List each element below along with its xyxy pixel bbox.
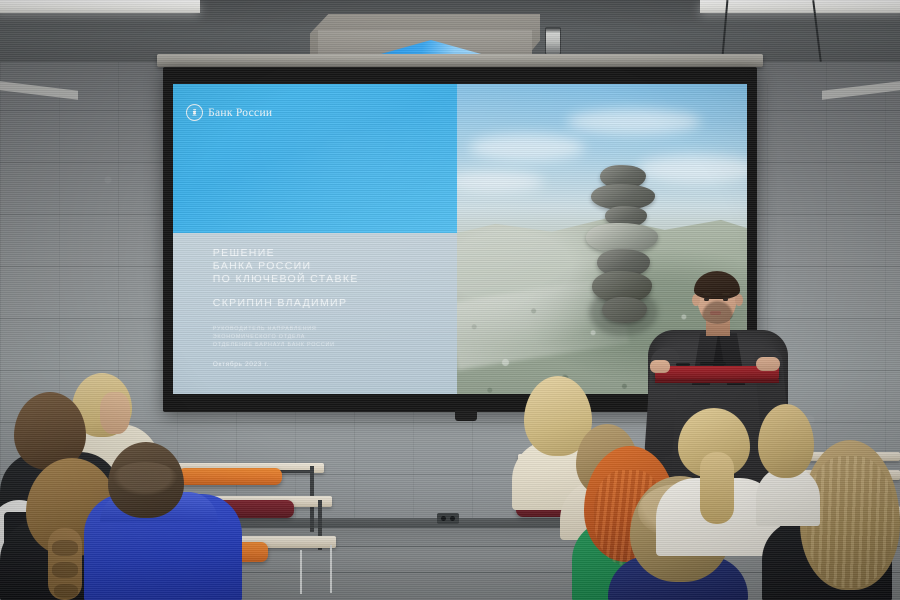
speaker-mouth bbox=[710, 311, 721, 315]
lectern-microphone bbox=[700, 362, 726, 365]
chair-leg-2 bbox=[300, 550, 302, 594]
chair-orange-back bbox=[178, 468, 282, 485]
slide-role-line-3: ОТДЕЛЕНИЕ БАРНАУЛ БАНК РОССИИ bbox=[213, 342, 359, 350]
cloud-1 bbox=[469, 134, 585, 162]
ceiling-light-right bbox=[700, 0, 900, 13]
speaker-hand-right bbox=[756, 357, 780, 371]
slide-text-block: РЕШЕНИЕ БАНКА РОССИИ ПО КЛЮЧЕВОЙ СТАВКЕ … bbox=[213, 247, 359, 368]
bank-of-russia-logo: Банк России bbox=[186, 104, 272, 121]
braid-knot-3 bbox=[54, 584, 78, 598]
braid-knot-1 bbox=[52, 540, 78, 556]
speaker-eye-right bbox=[723, 298, 728, 301]
cloud-2 bbox=[567, 109, 700, 134]
screen-weight-bar bbox=[455, 410, 477, 421]
slide-date: Октябрь 2023 г. bbox=[213, 361, 359, 368]
speaker-brow-left bbox=[703, 293, 711, 295]
bank-of-russia-emblem-icon bbox=[186, 104, 203, 121]
stone-cairn bbox=[585, 162, 663, 348]
slide-role-line-2: ЭКОНОМИЧЕСКОГО ОТДЕЛА bbox=[213, 334, 359, 342]
screen-roller-housing bbox=[157, 54, 763, 67]
slide-title-line-1: РЕШЕНИЕ bbox=[213, 247, 359, 260]
ceiling-light-left bbox=[0, 0, 200, 13]
speaker-eye-left bbox=[704, 298, 709, 301]
slide-title-line-3: ПО КЛЮЧЕВОЙ СТАВКЕ bbox=[213, 273, 359, 286]
cloud-3 bbox=[457, 171, 544, 193]
chair-leg-1 bbox=[330, 545, 332, 593]
ceiling-speaker-icon bbox=[545, 27, 561, 55]
slide-speaker-name: СКРИПИН ВЛАДИМИР bbox=[213, 297, 359, 309]
bank-of-russia-logo-text: Банк России bbox=[208, 107, 272, 119]
attendee-face bbox=[100, 392, 130, 434]
braid-knot-2 bbox=[52, 562, 78, 578]
lecture-hall-photo: Банк России РЕШЕНИЕ БАНКА РОССИИ ПО КЛЮЧ… bbox=[0, 0, 900, 600]
attendee-hair-highlight bbox=[112, 462, 178, 496]
slide-role-line-1: РУКОВОДИТЕЛЬ НАПРАВЛЕНИЯ bbox=[213, 326, 359, 334]
slide-title-line-2: БАНКА РОССИИ bbox=[213, 260, 359, 273]
wall-power-outlet bbox=[437, 513, 459, 524]
speaker-hand-left bbox=[650, 360, 670, 373]
slide-left-panel: Банк России РЕШЕНИЕ БАНКА РОССИИ ПО КЛЮЧ… bbox=[173, 84, 457, 394]
lectern-microphone-2 bbox=[676, 363, 690, 366]
lectern-lip bbox=[655, 379, 779, 383]
speaker-brow-right bbox=[722, 293, 730, 295]
attendee-hair bbox=[758, 404, 814, 478]
attendee-ponytail bbox=[700, 452, 734, 524]
